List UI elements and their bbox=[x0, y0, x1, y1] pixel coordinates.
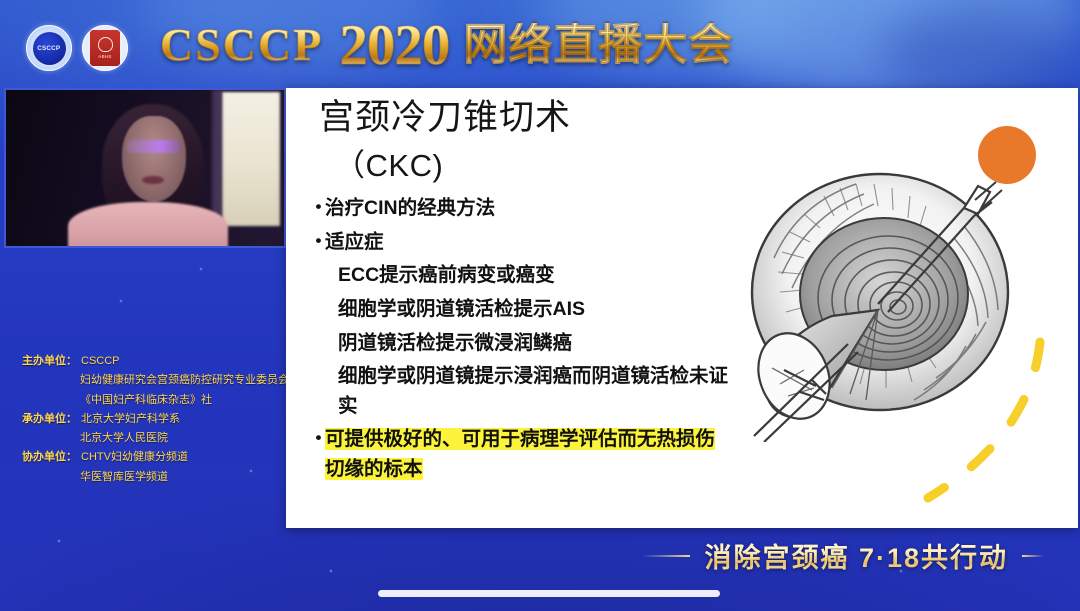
campaign-banner-text: 消除宫颈癌 7·18共行动 bbox=[704, 536, 1008, 575]
bullet-text: 细胞学或阴道镜活检提示AIS bbox=[338, 295, 732, 325]
banner-dash-right-icon bbox=[1022, 555, 1044, 557]
event-title-year: 2020 bbox=[339, 17, 449, 74]
sponsor-row: 主办单位： CSCCP bbox=[22, 352, 272, 371]
presenter-glasses bbox=[126, 140, 182, 153]
bullet-text: 可提供极好的、可用于病理学评估而无热损伤切缘的标本 bbox=[325, 425, 732, 484]
bullet-item: • 适应症 bbox=[312, 228, 732, 258]
sponsor-value: 《中国妇产科临床杂志》社 bbox=[80, 394, 212, 406]
presenter-face bbox=[122, 116, 186, 202]
sponsor-value: 北京大学人民医院 bbox=[80, 432, 168, 444]
event-title-cn: 网络直播大会 bbox=[463, 23, 733, 67]
bullet-item: ECC提示癌前病变或癌变 bbox=[312, 261, 732, 291]
presentation-slide[interactable]: 宫颈冷刀锥切术 （CKC) • 治疗CIN的经典方法 • 适应症 ECC提示癌前… bbox=[286, 88, 1078, 528]
slide-subtitle: （CKC) bbox=[334, 140, 443, 185]
logo-ring bbox=[82, 25, 128, 71]
yellow-dashed-arc-icon bbox=[898, 336, 1048, 526]
background-sparkle bbox=[58, 540, 60, 542]
bullet-text: 适应症 bbox=[325, 228, 732, 258]
bullet-item: 细胞学或阴道镜提示浸润癌而阴道镜活检未证实 bbox=[312, 362, 732, 421]
sponsor-value-wrap: 妇幼健康研究会宫颈癌防控研究专业委员会 bbox=[22, 371, 272, 390]
sponsor-value-wrap: 《中国妇产科临床杂志》社 bbox=[22, 391, 272, 410]
presenter-shirt bbox=[68, 202, 228, 248]
sponsor-row: 协办单位： CHTV妇幼健康分频道 bbox=[22, 448, 272, 467]
slide-title: 宫颈冷刀锥切术 bbox=[319, 100, 571, 137]
csccp-logo-icon: CSCCP bbox=[26, 25, 72, 71]
sponsor-value: 华医智库医学频道 bbox=[80, 471, 168, 483]
slide-bullet-list: • 治疗CIN的经典方法 • 适应症 ECC提示癌前病变或癌变 细胞学或阴道镜活… bbox=[312, 194, 732, 489]
background-sparkle bbox=[330, 570, 332, 572]
background-sparkle bbox=[200, 268, 202, 270]
bullet-text: 治疗CIN的经典方法 bbox=[325, 194, 732, 224]
bullet-dot-icon: • bbox=[312, 425, 325, 451]
sponsor-label: 承办单位： bbox=[22, 410, 77, 429]
sponsor-values: CSCCP bbox=[81, 352, 120, 371]
sponsor-value-wrap: 北京大学人民医院 bbox=[22, 429, 272, 448]
sponsor-value: CHTV妇幼健康分频道 bbox=[81, 448, 188, 467]
background-sparkle bbox=[120, 300, 122, 302]
sponsor-value: CSCCP bbox=[81, 352, 120, 371]
bullet-item: 阴道镜活检提示微浸润鳞癌 bbox=[312, 329, 732, 359]
bullet-item-highlighted: • 可提供极好的、可用于病理学评估而无热损伤切缘的标本 bbox=[312, 425, 732, 484]
logo-group: CSCCP ABHS bbox=[26, 25, 128, 71]
sponsor-label: 协办单位： bbox=[22, 448, 77, 467]
event-title: CSCCP 2020 网络直播大会 bbox=[160, 16, 733, 74]
sponsor-row: 承办单位： 北京大学妇产科学系 bbox=[22, 410, 272, 429]
video-window-light bbox=[222, 92, 280, 226]
sponsor-values: 北京大学妇产科学系 bbox=[81, 410, 180, 429]
sponsor-block: 主办单位： CSCCP 妇幼健康研究会宫颈癌防控研究专业委员会 《中国妇产科临床… bbox=[22, 352, 272, 487]
bullet-text: ECC提示癌前病变或癌变 bbox=[338, 261, 732, 291]
presenter-video-panel[interactable] bbox=[4, 88, 286, 248]
sponsor-values: CHTV妇幼健康分频道 bbox=[81, 448, 188, 467]
bullet-dot-icon: • bbox=[312, 228, 325, 254]
sponsor-label: 主办单位： bbox=[22, 352, 77, 371]
sponsor-value-wrap: 华医智库医学频道 bbox=[22, 468, 272, 487]
campaign-banner: 消除宫颈癌 7·18共行动 bbox=[642, 536, 1044, 575]
banner-dash-left-icon bbox=[642, 555, 690, 557]
bullet-text: 细胞学或阴道镜提示浸润癌而阴道镜活检未证实 bbox=[338, 362, 732, 421]
home-indicator[interactable] bbox=[378, 590, 720, 597]
sponsor-value: 北京大学妇产科学系 bbox=[81, 410, 180, 429]
csccp-logo-mark: CSCCP bbox=[38, 45, 61, 51]
bullet-dot-icon: • bbox=[312, 194, 325, 220]
screen: CSCCP ABHS CSCCP 2020 网络直播大会 bbox=[0, 0, 1080, 611]
event-title-en: CSCCP bbox=[160, 22, 323, 68]
header-bar: CSCCP ABHS CSCCP 2020 网络直播大会 bbox=[0, 0, 1080, 88]
bullet-item: 细胞学或阴道镜活检提示AIS bbox=[312, 295, 732, 325]
abhs-logo-icon: ABHS bbox=[82, 25, 128, 71]
highlighted-text: 可提供极好的、可用于病理学评估而无热损伤切缘的标本 bbox=[325, 428, 715, 480]
presenter-lips bbox=[142, 176, 164, 184]
bullet-text: 阴道镜活检提示微浸润鳞癌 bbox=[338, 329, 732, 359]
bullet-item: • 治疗CIN的经典方法 bbox=[312, 194, 732, 224]
sponsor-value: 妇幼健康研究会宫颈癌防控研究专业委员会 bbox=[80, 374, 289, 386]
